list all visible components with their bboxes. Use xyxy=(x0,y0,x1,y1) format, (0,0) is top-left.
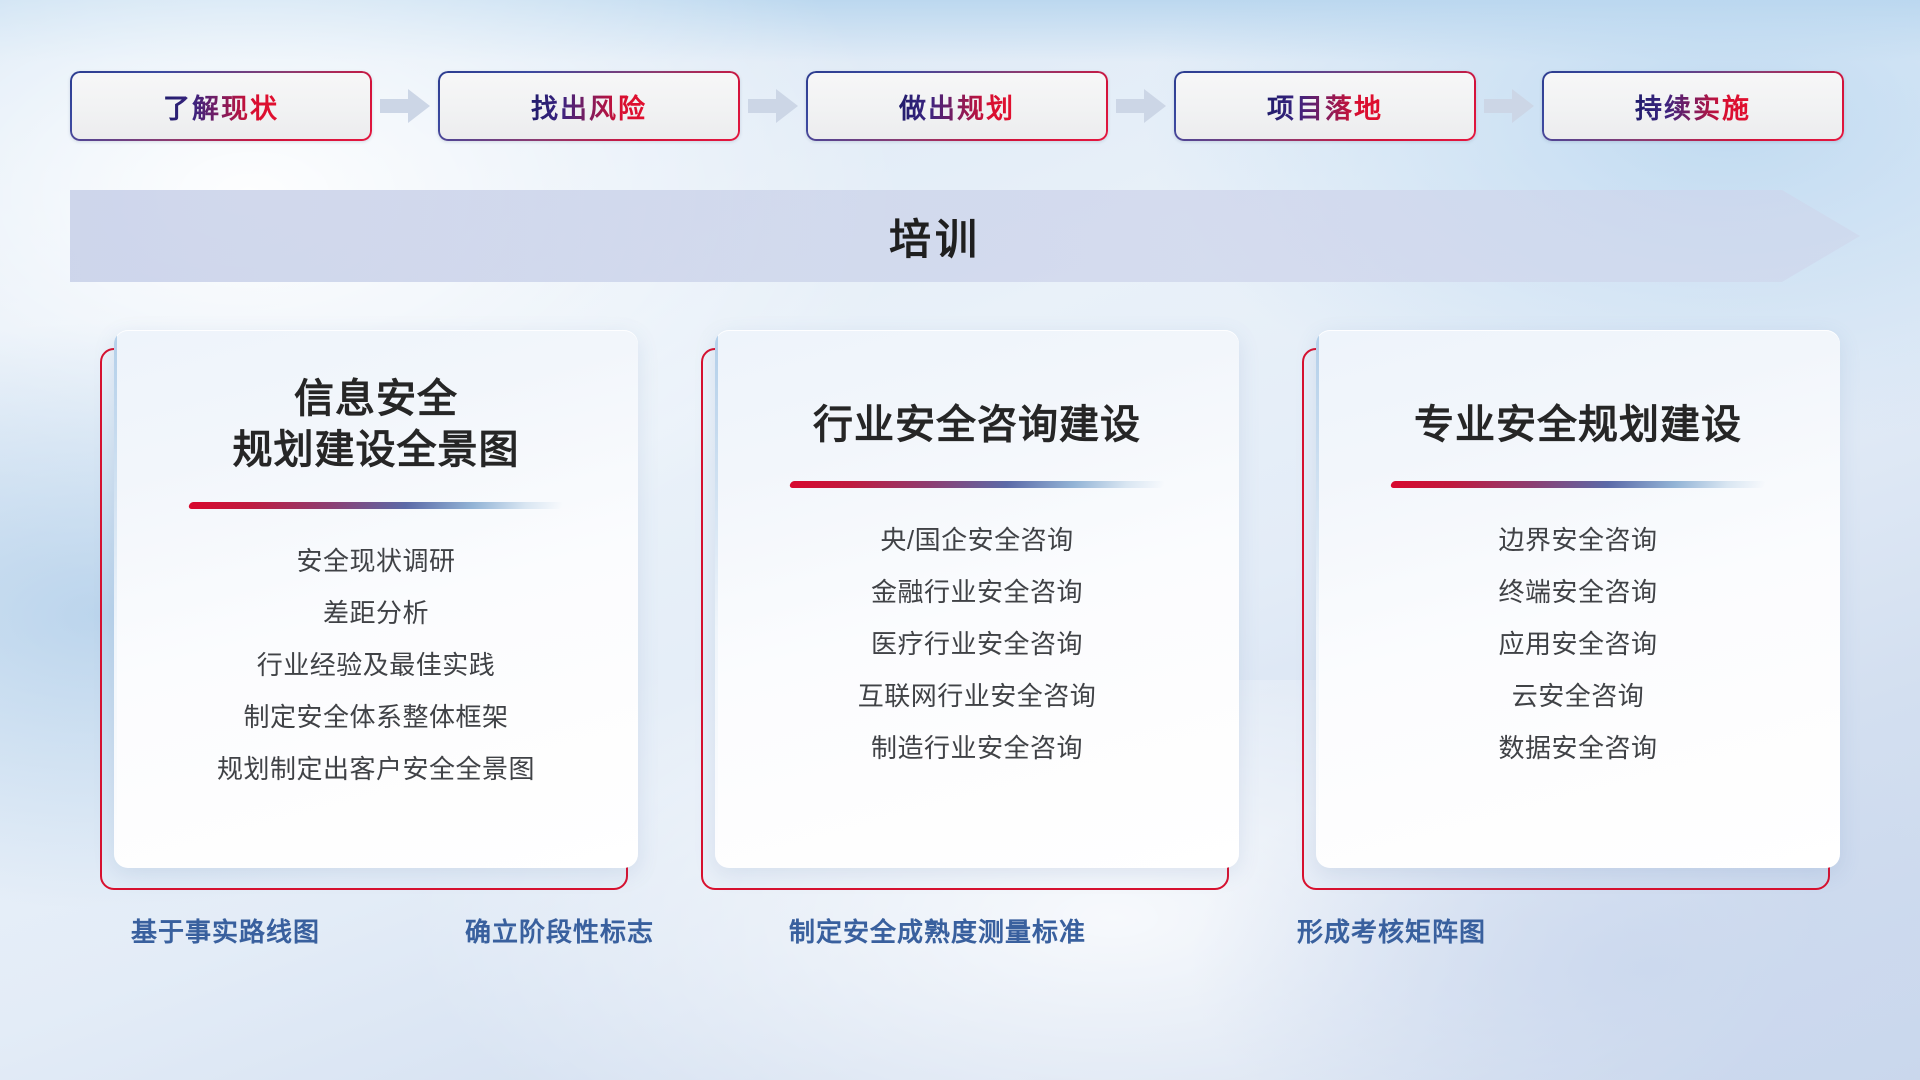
card-item-list: 央/国企安全咨询 金融行业安全咨询 医疗行业安全咨询 互联网行业安全咨询 制造行… xyxy=(715,514,1239,774)
step-box-2[interactable]: 找出风险 xyxy=(438,71,740,141)
card-title-line1: 信息安全 xyxy=(114,374,638,425)
right-arrow-icon xyxy=(380,89,430,123)
right-arrow-icon xyxy=(748,89,798,123)
card-accent-rule xyxy=(188,502,564,509)
training-banner: 培训 xyxy=(70,190,1860,282)
caption-maturity: 制定安全成熟度测量标准 xyxy=(789,912,1086,949)
right-arrow-icon xyxy=(1484,89,1534,123)
list-item: 央/国企安全咨询 xyxy=(715,514,1239,566)
process-step-row: 了解现状 找出风险 做出规划 项目落地 xyxy=(70,70,1850,142)
list-item: 安全现状调研 xyxy=(114,535,638,587)
caption-matrix: 形成考核矩阵图 xyxy=(1297,912,1486,949)
step-label: 了解现状 xyxy=(163,87,279,126)
card-row: 信息安全 规划建设全景图 安全现状调研 差距分析 行业经验及最佳实践 制定安全体… xyxy=(100,330,1840,890)
step-label: 找出风险 xyxy=(531,87,647,126)
step-box-5[interactable]: 持续实施 xyxy=(1542,71,1844,141)
list-item: 金融行业安全咨询 xyxy=(715,566,1239,618)
slide-content: 了解现状 找出风险 做出规划 项目落地 xyxy=(0,0,1920,1080)
card-information-security-blueprint[interactable]: 信息安全 规划建设全景图 安全现状调研 差距分析 行业经验及最佳实践 制定安全体… xyxy=(114,330,638,868)
banner-title: 培训 xyxy=(70,190,1860,282)
card-industry-security-consulting[interactable]: 行业安全咨询建设 央/国企安全咨询 金融行业安全咨询 医疗行业安全咨询 互联网行… xyxy=(715,330,1239,868)
step-box-1[interactable]: 了解现状 xyxy=(70,71,372,141)
list-item: 行业经验及最佳实践 xyxy=(114,639,638,691)
card-title-line1: 专业安全规划建设 xyxy=(1316,400,1840,451)
list-item: 医疗行业安全咨询 xyxy=(715,618,1239,670)
card-title: 专业安全规划建设 xyxy=(1316,330,1840,451)
card-professional-security-planning[interactable]: 专业安全规划建设 边界安全咨询 终端安全咨询 应用安全咨询 云安全咨询 数据安全… xyxy=(1316,330,1840,868)
card-title: 行业安全咨询建设 xyxy=(715,330,1239,451)
card-title-line2: 规划建设全景图 xyxy=(114,425,638,476)
card-accent-rule xyxy=(1390,481,1766,488)
step-label: 持续实施 xyxy=(1635,87,1751,126)
list-item: 终端安全咨询 xyxy=(1316,566,1840,618)
step-box-4[interactable]: 项目落地 xyxy=(1174,71,1476,141)
caption-roadmap: 基于事实路线图 xyxy=(131,912,320,949)
card-accent-rule xyxy=(789,481,1165,488)
card-title-line1: 行业安全咨询建设 xyxy=(715,400,1239,451)
card-wrap-1: 信息安全 规划建设全景图 安全现状调研 差距分析 行业经验及最佳实践 制定安全体… xyxy=(100,330,638,890)
list-item: 规划制定出客户安全全景图 xyxy=(114,743,638,795)
right-arrow-icon xyxy=(1116,89,1166,123)
card-item-list: 边界安全咨询 终端安全咨询 应用安全咨询 云安全咨询 数据安全咨询 xyxy=(1316,514,1840,774)
list-item: 应用安全咨询 xyxy=(1316,618,1840,670)
caption-milestone: 确立阶段性标志 xyxy=(465,912,654,949)
card-wrap-2: 行业安全咨询建设 央/国企安全咨询 金融行业安全咨询 医疗行业安全咨询 互联网行… xyxy=(701,330,1239,890)
card-title: 信息安全 规划建设全景图 xyxy=(114,330,638,476)
step-label: 项目落地 xyxy=(1267,87,1383,126)
list-item: 制定安全体系整体框架 xyxy=(114,691,638,743)
step-box-3[interactable]: 做出规划 xyxy=(806,71,1108,141)
list-item: 云安全咨询 xyxy=(1316,670,1840,722)
list-item: 差距分析 xyxy=(114,587,638,639)
list-item: 数据安全咨询 xyxy=(1316,722,1840,774)
list-item: 边界安全咨询 xyxy=(1316,514,1840,566)
list-item: 互联网行业安全咨询 xyxy=(715,670,1239,722)
list-item: 制造行业安全咨询 xyxy=(715,722,1239,774)
card-item-list: 安全现状调研 差距分析 行业经验及最佳实践 制定安全体系整体框架 规划制定出客户… xyxy=(114,535,638,795)
card-wrap-3: 专业安全规划建设 边界安全咨询 终端安全咨询 应用安全咨询 云安全咨询 数据安全… xyxy=(1302,330,1840,890)
step-label: 做出规划 xyxy=(899,87,1015,126)
caption-row: 基于事实路线图 确立阶段性标志 制定安全成熟度测量标准 形成考核矩阵图 xyxy=(0,912,1920,962)
